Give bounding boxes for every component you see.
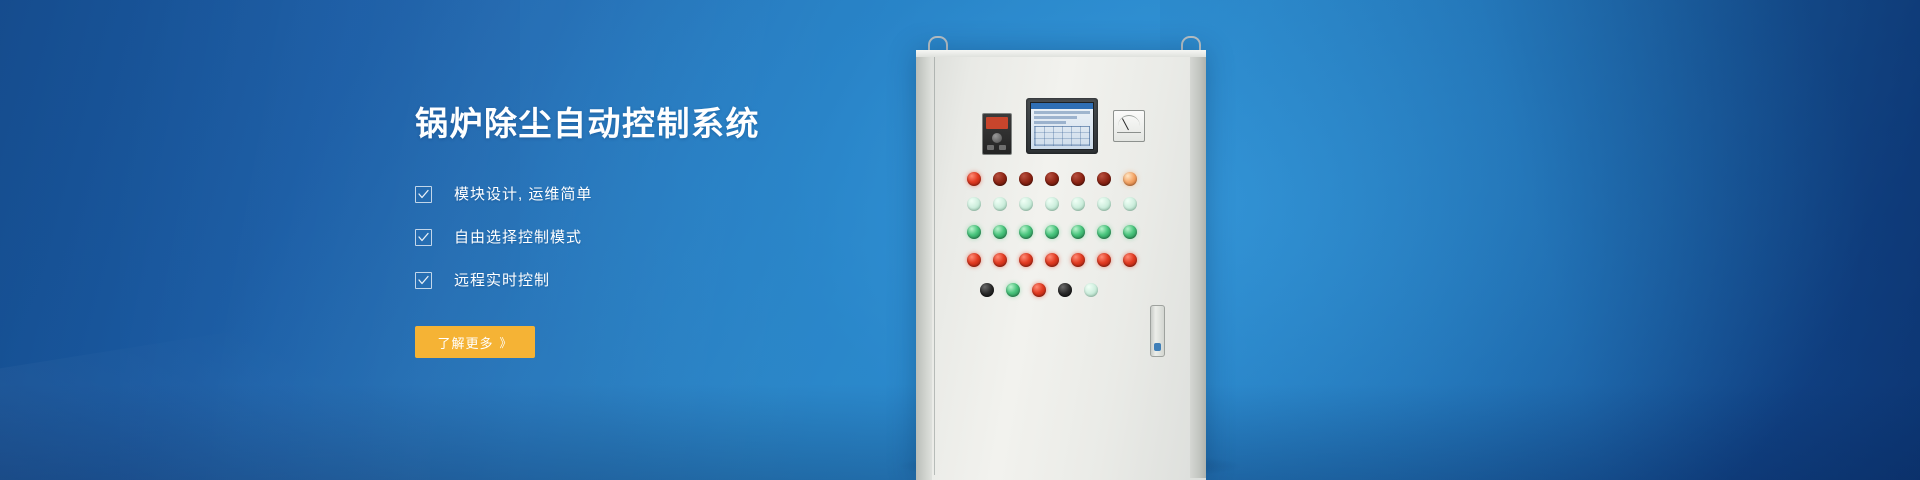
indicator-lamp-row — [967, 253, 1149, 267]
feature-label: 模块设计, 运维简单 — [454, 186, 592, 203]
indicator-lamp — [1123, 225, 1137, 239]
indicator-lamp — [1071, 253, 1085, 267]
hmi-touch-screen — [1026, 98, 1098, 154]
chevron-right-icon: 》 — [500, 334, 513, 351]
keypad-knob-icon — [992, 133, 1002, 143]
hmi-text-row — [1034, 121, 1066, 124]
cabinet-door-seam — [934, 57, 935, 475]
indicator-lamp — [967, 225, 981, 239]
checkbox-check-icon — [415, 229, 432, 246]
indicator-lamp-row — [967, 197, 1149, 211]
cabinet-top-panel — [916, 50, 1206, 57]
cabinet-left-edge — [916, 50, 932, 480]
list-item: 自由选择控制模式 — [415, 221, 935, 254]
hmi-title-bar — [1031, 103, 1093, 109]
door-lock-icon — [1154, 343, 1161, 351]
indicator-lamp — [1045, 197, 1059, 211]
indicator-lamp — [1097, 225, 1111, 239]
indicator-lamp — [1032, 283, 1046, 297]
control-cabinet-photo — [900, 0, 1280, 480]
feature-list: 模块设计, 运维简单 自由选择控制模式 远程实时控制 — [415, 178, 935, 297]
indicator-lamp — [993, 197, 1007, 211]
checkbox-check-icon — [415, 186, 432, 203]
analog-panel-meter — [1113, 110, 1145, 142]
indicator-lamp-row — [967, 172, 1149, 186]
indicator-lamp — [1019, 197, 1033, 211]
learn-more-label: 了解更多 — [437, 333, 493, 352]
indicator-lamp — [993, 225, 1007, 239]
indicator-lamp — [967, 172, 981, 186]
list-item: 远程实时控制 — [415, 264, 935, 297]
indicator-lamp — [1123, 253, 1137, 267]
background-facet-lower-left — [0, 300, 430, 480]
indicator-lamp — [1071, 172, 1085, 186]
selector-switch — [1058, 283, 1072, 297]
indicator-lamp — [1084, 283, 1098, 297]
selector-switch — [980, 283, 994, 297]
feature-label: 自由选择控制模式 — [454, 229, 582, 246]
indicator-lamp — [993, 172, 1007, 186]
keypad-button-right — [999, 145, 1006, 150]
indicator-lamp — [1019, 225, 1033, 239]
indicator-lamp — [1006, 283, 1020, 297]
hero-copy-block: 锅炉除尘自动控制系统 模块设计, 运维简单 自由选择控制模式 — [415, 104, 935, 358]
indicator-lamp — [1019, 253, 1033, 267]
hmi-text-row — [1034, 111, 1090, 114]
indicator-lamp — [1045, 253, 1059, 267]
door-handle — [1150, 305, 1165, 357]
page-title: 锅炉除尘自动控制系统 — [415, 104, 935, 144]
indicator-lamp — [967, 197, 981, 211]
keypad-display — [986, 117, 1008, 129]
indicator-lamp — [1097, 253, 1111, 267]
keypad-button-left — [987, 145, 994, 150]
indicator-lamp — [967, 253, 981, 267]
indicator-lamp — [1123, 197, 1137, 211]
indicator-lamp — [1097, 197, 1111, 211]
selector-switch-row — [980, 283, 1110, 297]
indicator-lamp-row — [967, 225, 1149, 239]
indicator-lamp — [1045, 172, 1059, 186]
hmi-text-row — [1034, 116, 1077, 119]
vfd-keypad-module — [982, 113, 1012, 155]
cabinet-right-edge — [1190, 52, 1206, 478]
indicator-lamp — [1019, 172, 1033, 186]
indicator-lamp — [1123, 172, 1137, 186]
indicator-lamp — [1071, 197, 1085, 211]
indicator-lamp — [1045, 225, 1059, 239]
hmi-screen-surface — [1030, 102, 1094, 150]
indicator-lamp — [1097, 172, 1111, 186]
hero-banner: 锅炉除尘自动控制系统 模块设计, 运维简单 自由选择控制模式 — [0, 0, 1920, 480]
indicator-lamp — [1071, 225, 1085, 239]
feature-label: 远程实时控制 — [454, 272, 550, 289]
learn-more-button[interactable]: 了解更多 》 — [415, 326, 535, 358]
list-item: 模块设计, 运维简单 — [415, 178, 935, 211]
meter-dial — [1117, 115, 1141, 133]
indicator-lamp — [993, 253, 1007, 267]
hmi-data-grid — [1034, 126, 1090, 146]
checkbox-check-icon — [415, 272, 432, 289]
